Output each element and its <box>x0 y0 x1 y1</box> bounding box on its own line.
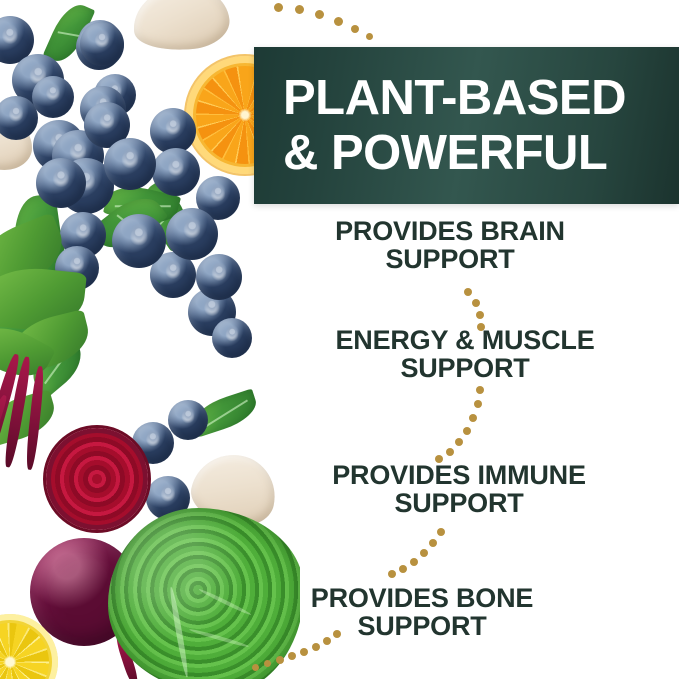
accent-dot <box>446 448 454 456</box>
accent-dot <box>464 288 472 296</box>
title-banner: PLANT-BASED & POWERFUL <box>254 47 679 204</box>
accent-dot <box>288 652 296 660</box>
banner-title-line-1: PLANT-BASED <box>283 74 679 123</box>
benefit-energy-muscle-support: ENERGY & MUSCLE SUPPORT <box>305 327 625 382</box>
accent-dot <box>472 299 480 307</box>
blueberry-icon <box>80 22 124 66</box>
beet-slice-icon <box>46 428 148 530</box>
accent-dot <box>300 648 308 656</box>
blueberry-icon <box>152 148 200 196</box>
blueberry-icon <box>112 214 166 268</box>
blueberry-icon <box>104 138 156 190</box>
blueberry-icon <box>196 254 242 300</box>
accent-dot <box>323 637 331 645</box>
blueberry-icon <box>166 208 218 260</box>
accent-dot <box>469 414 477 422</box>
accent-dot <box>366 33 373 40</box>
benefit-line-2: SUPPORT <box>300 246 600 274</box>
accent-dot <box>437 528 445 536</box>
benefit-line-1: PROVIDES BRAIN <box>300 218 600 246</box>
accent-dot <box>476 311 484 319</box>
accent-dot <box>435 455 443 463</box>
blueberry-icon <box>168 400 208 440</box>
accent-dot <box>312 643 320 651</box>
banner-title-line-2: & POWERFUL <box>283 129 679 178</box>
blueberry-icon <box>212 318 252 358</box>
accent-dot <box>474 400 482 408</box>
accent-dot <box>455 438 463 446</box>
accent-dot <box>463 427 471 435</box>
accent-dot <box>388 570 396 578</box>
benefit-line-1: PROVIDES IMMUNE <box>303 462 615 490</box>
accent-dot <box>420 549 428 557</box>
accent-dot <box>476 386 484 394</box>
accent-dot <box>295 5 304 14</box>
benefit-line-2: SUPPORT <box>303 490 615 518</box>
benefit-line-2: SUPPORT <box>305 355 625 383</box>
accent-dot <box>410 558 418 566</box>
benefit-brain-support: PROVIDES BRAIN SUPPORT <box>300 218 600 273</box>
accent-dot <box>315 10 324 19</box>
accent-dot <box>399 565 407 573</box>
accent-dot <box>264 660 271 667</box>
mushroom-slice-icon <box>130 0 232 55</box>
accent-dot <box>351 25 359 33</box>
benefit-bone-support: PROVIDES BONE SUPPORT <box>272 585 572 640</box>
infographic-canvas: PLANT-BASED & POWERFUL PROVIDES BRAIN SU… <box>0 0 679 679</box>
accent-dot <box>429 539 437 547</box>
blueberry-icon <box>32 76 74 118</box>
accent-dot <box>274 3 283 12</box>
blueberry-icon <box>36 158 86 208</box>
benefit-line-1: ENERGY & MUSCLE <box>305 327 625 355</box>
benefit-line-2: SUPPORT <box>272 613 572 641</box>
accent-dot <box>334 17 343 26</box>
accent-dot <box>477 323 485 331</box>
accent-dot <box>276 656 284 664</box>
accent-dot <box>333 630 341 638</box>
accent-dot <box>252 664 259 671</box>
benefit-immune-support: PROVIDES IMMUNE SUPPORT <box>303 462 615 517</box>
benefit-line-1: PROVIDES BONE <box>272 585 572 613</box>
